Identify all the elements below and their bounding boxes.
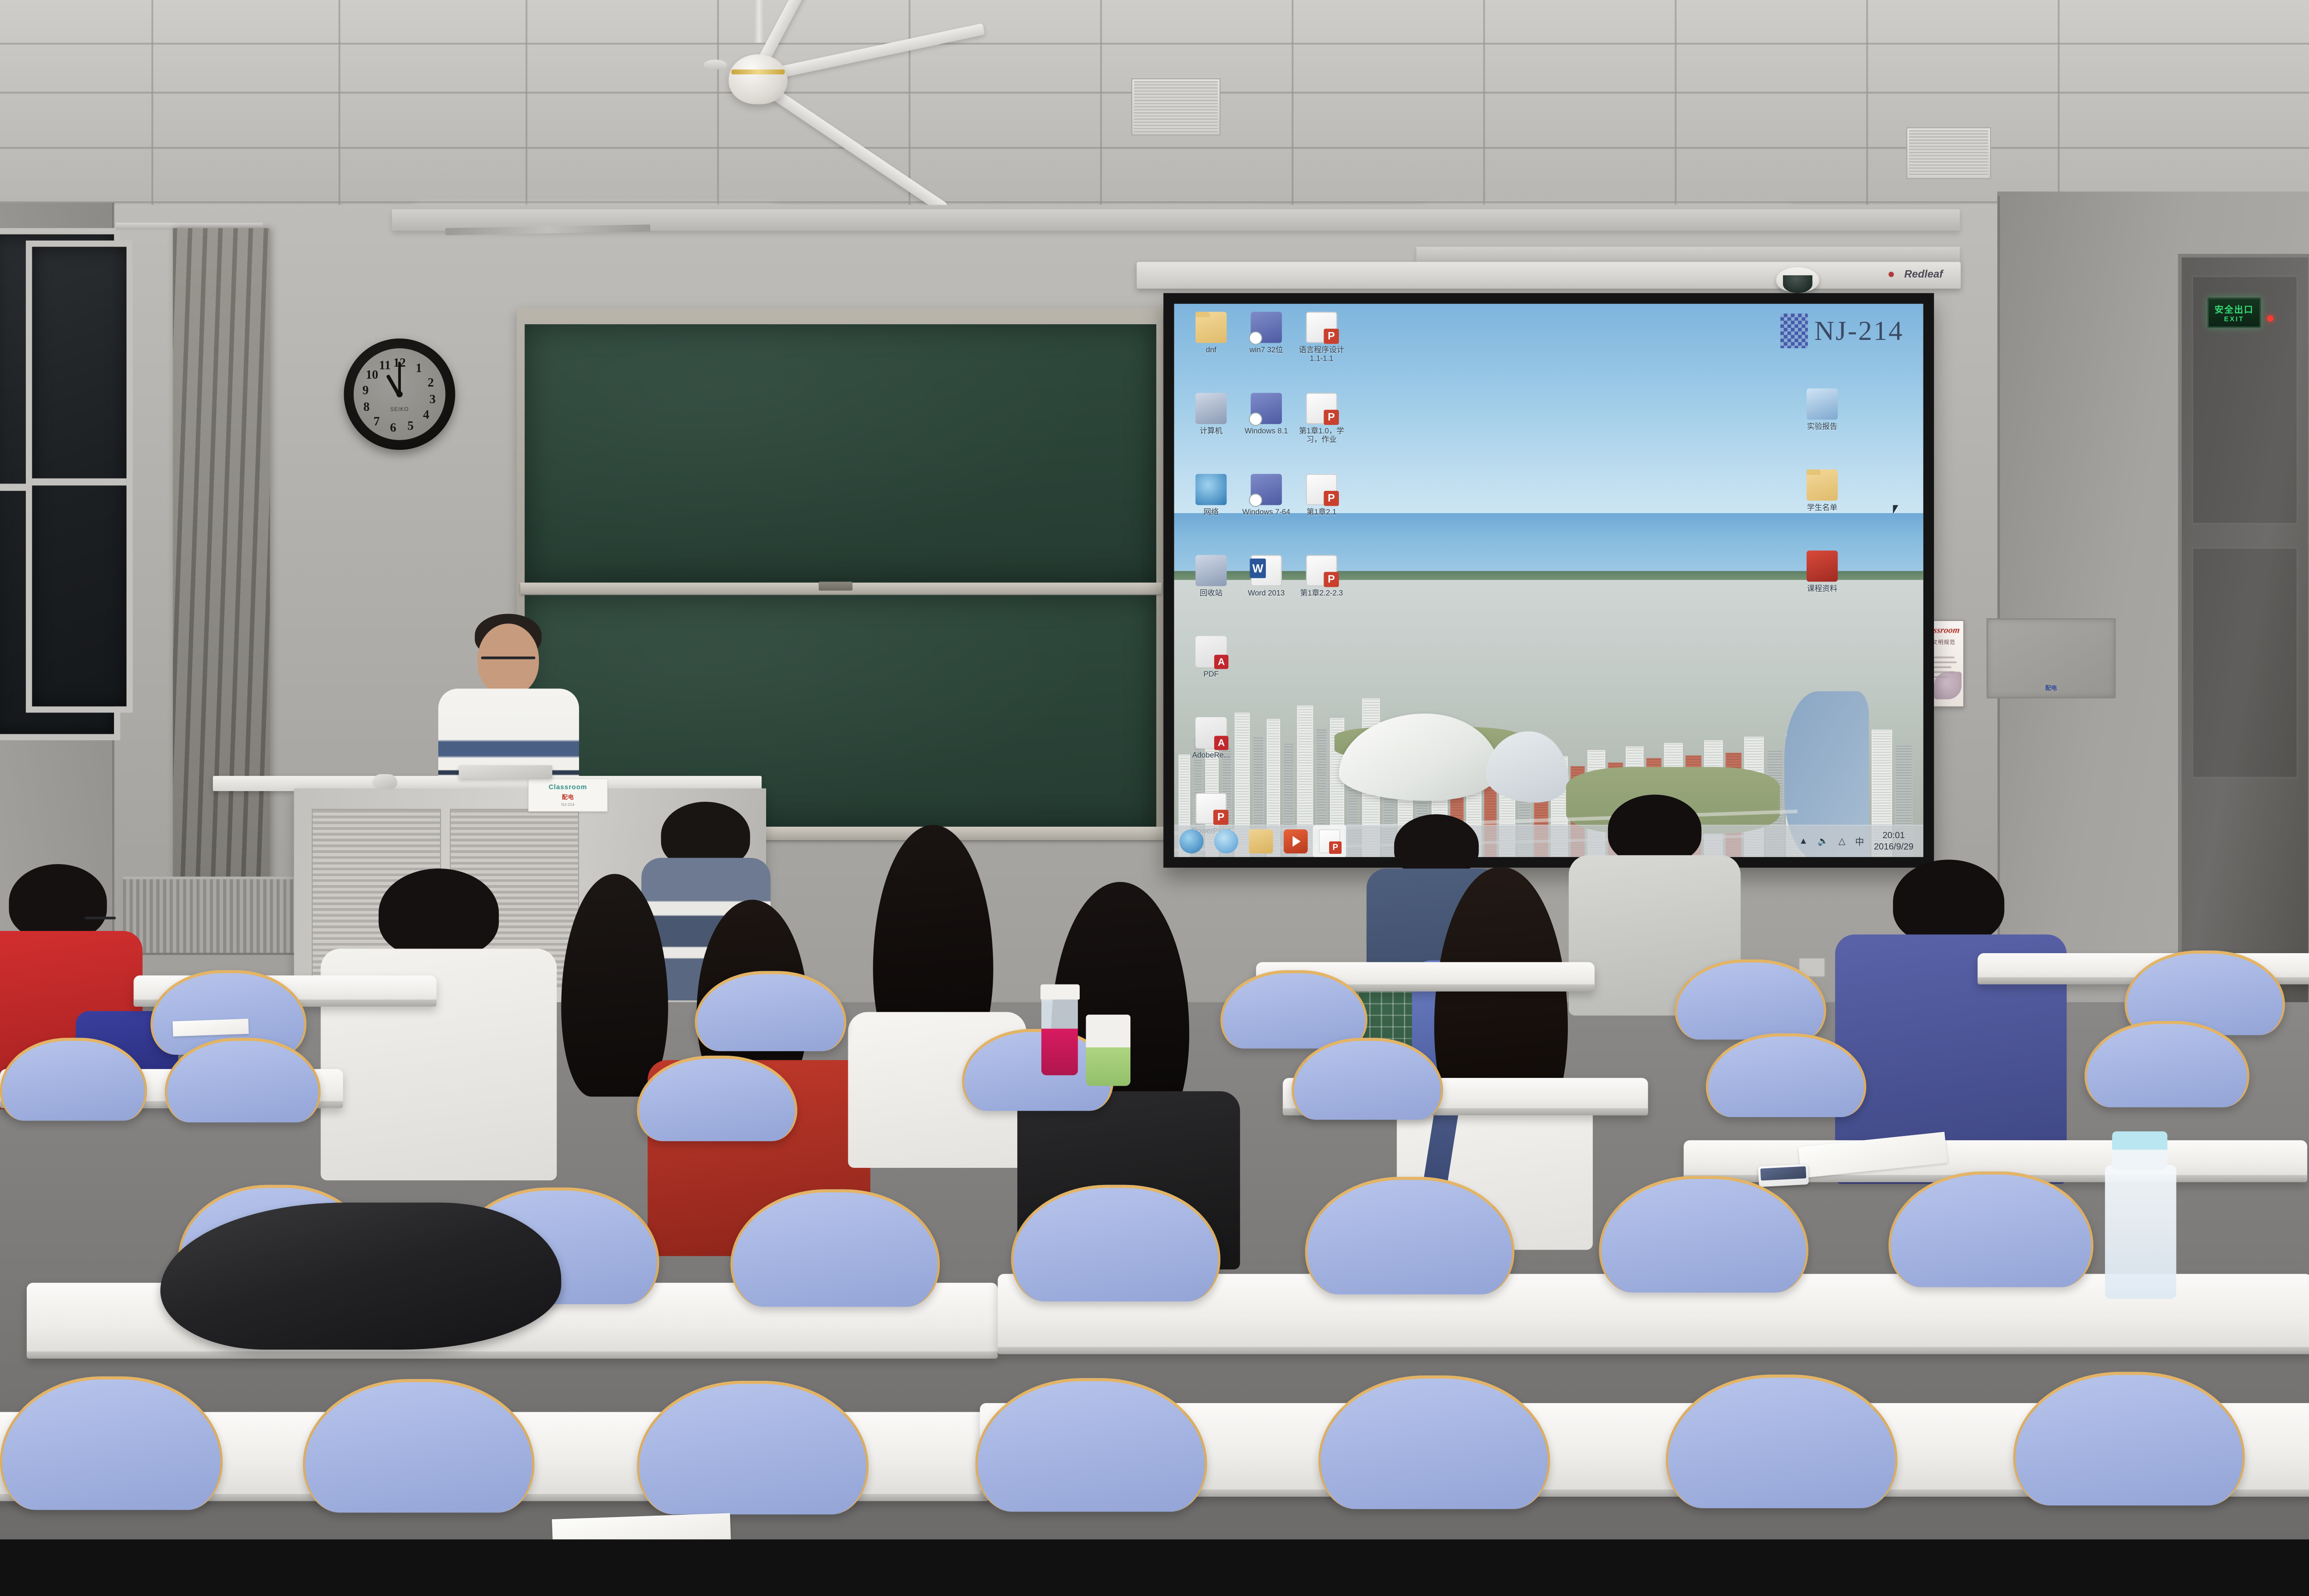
taskbar-media-button[interactable] <box>1278 825 1313 857</box>
taskbar-time: 20:01 <box>1882 830 1904 840</box>
clock-numeral: 3 <box>429 393 436 407</box>
clock-numeral: 8 <box>363 400 370 414</box>
desktop-icon-label: 第1章2.2-2.3 <box>1295 589 1348 597</box>
lectern-laptop[interactable] <box>459 765 552 779</box>
desktop-icon[interactable]: 计算机 <box>1185 393 1238 435</box>
desktop-icon[interactable]: 语言程序设计 1.1-1.1 <box>1295 312 1348 363</box>
powerpoint-icon <box>1306 393 1337 424</box>
projected-desktop[interactable]: dnf 计算机 网络 回收站 PDF AdobeRe... PowerPoint <box>1174 304 1923 857</box>
student-hair <box>1394 814 1479 877</box>
student-glasses-icon <box>85 917 116 919</box>
student-hair <box>1608 795 1702 864</box>
taskbar-clock[interactable]: 20:01 2016/9/29 <box>1874 830 1914 852</box>
fan-hub <box>729 54 787 104</box>
taskbar-ie-button[interactable] <box>1209 825 1244 857</box>
desktop-icon[interactable]: Windows 8.1 <box>1240 393 1293 435</box>
computer-icon <box>1196 393 1227 424</box>
adobe-reader-icon <box>1196 717 1227 749</box>
desktop-icon-label: Word 2013 <box>1240 589 1293 597</box>
clock-center-pin <box>396 391 403 398</box>
clock-minute-hand <box>398 362 401 395</box>
taskbar-date: 2016/9/29 <box>1874 841 1914 851</box>
instructor-head <box>478 623 539 695</box>
lectern-label-footer: NJ-214 <box>562 802 574 807</box>
clock-numeral: 1 <box>416 362 422 376</box>
electrical-access-panel[interactable]: 配电 <box>1987 618 2116 699</box>
media-player-icon <box>1284 829 1308 853</box>
mouse-cursor-icon <box>1893 505 1898 514</box>
desktop-icon-label: 实验报告 <box>1796 422 1849 430</box>
chalkboard-clip[interactable] <box>819 582 852 591</box>
network-icon <box>1196 474 1227 505</box>
desktop-icon[interactable]: 课程资料 <box>1796 550 1849 593</box>
volume-icon[interactable]: 🔈 <box>1818 835 1829 846</box>
desktop-icon-label: 学生名单 <box>1796 503 1849 512</box>
desktop-icon-label: 课程资料 <box>1796 584 1849 592</box>
clock-numeral: 10 <box>366 368 378 382</box>
clock-numeral: 7 <box>374 415 380 429</box>
recycle-bin-icon <box>1196 555 1227 586</box>
projection-screen-housing: Redleaf <box>1136 262 1960 289</box>
smoke-detector <box>704 60 727 69</box>
panel-tag-label: 配电 <box>2045 683 2057 692</box>
security-camera <box>1776 267 1819 292</box>
phone-screen <box>1760 1166 1807 1180</box>
poster-flower-graphic <box>1934 671 1962 699</box>
desktop-icon-label: Windows 8.1 <box>1240 427 1293 435</box>
lectern-label-warning: 配电 <box>562 792 574 801</box>
desktop-icon-label: 回收站 <box>1185 589 1238 597</box>
desktop-icon[interactable]: win7 32位 <box>1240 312 1293 354</box>
emergency-exit-sign: 安全出口 EXIT <box>2207 297 2261 328</box>
clock-numeral: 5 <box>407 419 414 434</box>
screen-brand-dot <box>1889 272 1894 277</box>
desktop-icon[interactable]: Word 2013 <box>1240 555 1293 598</box>
desktop-icon-label: 计算机 <box>1185 427 1238 435</box>
clock-face: 12 1 2 3 4 5 6 7 8 9 10 11 SEIKO <box>354 348 446 440</box>
classroom-door[interactable] <box>2178 254 2309 1011</box>
desktop-icon-label: win7 32位 <box>1240 345 1293 354</box>
network-icon[interactable]: △ <box>1838 835 1845 846</box>
clock-brand: SEIKO <box>390 406 409 412</box>
powerpoint-icon <box>1306 555 1337 586</box>
windows-logo-icon <box>1781 314 1808 348</box>
image-file-icon <box>1807 388 1838 420</box>
wallpaper-cityscape <box>1174 580 1923 857</box>
internet-explorer-icon <box>1214 829 1238 853</box>
desktop-icon-label: 第1章1.0，学习，作业 <box>1295 427 1348 444</box>
powerpoint-icon <box>1196 793 1227 824</box>
desktop-icon[interactable]: 学生名单 <box>1796 470 1849 512</box>
water-bottle-pink[interactable] <box>1041 995 1078 1076</box>
water-bottle-clear-cap[interactable] <box>2112 1131 2168 1170</box>
system-tray[interactable]: ▲ 🔈 △ 中 20:01 2016/9/29 <box>1799 830 1923 852</box>
desktop-icon[interactable]: AdobeRe... <box>1185 717 1238 760</box>
lectern-mouse[interactable] <box>372 774 397 789</box>
desktop-icon-label: AdobeRe... <box>1185 751 1238 759</box>
file-explorer-icon <box>1249 829 1273 853</box>
desktop-icon[interactable]: 网络 <box>1185 474 1238 516</box>
taskbar-start-button[interactable] <box>1174 825 1209 857</box>
student-hair <box>9 864 107 940</box>
folder-icon <box>1807 470 1838 501</box>
ime-icon[interactable]: 中 <box>1855 834 1864 847</box>
clock-numeral: 11 <box>379 359 391 373</box>
shortcut-icon <box>1251 474 1282 505</box>
chalkboard-upper <box>525 324 1156 582</box>
fan-downrod <box>754 0 764 43</box>
powerpoint-icon <box>1306 312 1337 343</box>
desktop-icon[interactable]: 回收站 <box>1185 555 1238 598</box>
desktop-icon-label: 第1章2.1 <box>1295 508 1348 516</box>
powerpoint-icon <box>1319 829 1340 853</box>
shortcut-icon <box>1251 393 1282 424</box>
desktop-icon[interactable]: 第1章1.0，学习，作业 <box>1295 393 1348 444</box>
windows-taskbar[interactable]: ▲ 🔈 △ 中 20:01 2016/9/29 <box>1174 825 1923 857</box>
student-hair <box>379 869 499 958</box>
folder-icon <box>1196 312 1227 343</box>
notebook-papers-left[interactable] <box>173 1019 249 1036</box>
screen-brand-label: Redleaf <box>1904 268 1943 281</box>
exit-sign-chinese: 安全出口 <box>2215 302 2254 315</box>
water-bottle-pink-cap[interactable] <box>1040 985 1080 1000</box>
student-hair <box>1893 859 2004 944</box>
clock-numeral: 4 <box>423 408 429 423</box>
water-bottle-clear[interactable] <box>2105 1165 2176 1299</box>
show-hidden-icons[interactable]: ▲ <box>1799 836 1808 846</box>
desktop-icon[interactable]: Windows 7-64 <box>1240 474 1293 516</box>
smartphone-on-desk[interactable] <box>1758 1164 1809 1187</box>
ceiling <box>0 0 2309 232</box>
room-code-watermark: NJ-214 <box>1814 315 1904 346</box>
shortcut-icon <box>1251 312 1282 343</box>
desktop-icon[interactable]: 实验报告 <box>1796 388 1849 431</box>
lectern-label-title: Classroom <box>549 784 587 791</box>
desktop-icon-label: dnf <box>1185 345 1238 354</box>
exit-sign-led <box>2267 315 2273 322</box>
desktop-icon-label: PDF <box>1185 670 1238 678</box>
desktop-icon-label: 网络 <box>1185 508 1238 516</box>
desktop-icon[interactable]: PDF <box>1185 636 1238 678</box>
desktop-icon-label: Windows 7-64 <box>1240 508 1293 516</box>
start-orb-icon <box>1179 829 1203 853</box>
taskbar-powerpoint-button[interactable] <box>1313 825 1346 857</box>
classroom-scene: 安全出口 EXIT 配电 Classroom 课堂文明规范公约 12 1 2 3… <box>0 0 2309 1539</box>
water-bottle-green[interactable] <box>1086 1015 1130 1086</box>
wall-clock: 12 1 2 3 4 5 6 7 8 9 10 11 SEIKO <box>344 339 455 450</box>
word-icon <box>1251 555 1282 586</box>
taskbar-explorer-button[interactable] <box>1244 825 1278 857</box>
desktop-icon-label: 语言程序设计 1.1-1.1 <box>1295 345 1348 363</box>
air-vent <box>1131 79 1221 135</box>
instructor-glasses-icon <box>481 657 536 659</box>
exit-sign-english: EXIT <box>2224 315 2244 323</box>
clock-numeral: 6 <box>390 421 397 435</box>
window-curtain[interactable] <box>173 228 270 923</box>
air-vent-right <box>1906 127 1991 179</box>
desktop-icon[interactable]: dnf <box>1185 312 1238 354</box>
clock-numeral: 2 <box>428 376 434 390</box>
desktop-icon[interactable]: 第1章2.1 <box>1295 474 1348 516</box>
powerpoint-icon <box>1306 474 1337 505</box>
pdf-icon <box>1196 636 1227 667</box>
window-left-near <box>26 241 133 713</box>
desktop-icon[interactable]: 第1章2.2-2.3 <box>1295 555 1348 598</box>
lectern-info-label: Classroom 配电 NJ-214 <box>528 779 608 811</box>
camera-lens-icon <box>1783 275 1813 293</box>
red-file-icon <box>1807 550 1838 582</box>
clock-numeral: 9 <box>363 383 369 398</box>
screen-watermark: NJ-214 <box>1781 314 1904 348</box>
